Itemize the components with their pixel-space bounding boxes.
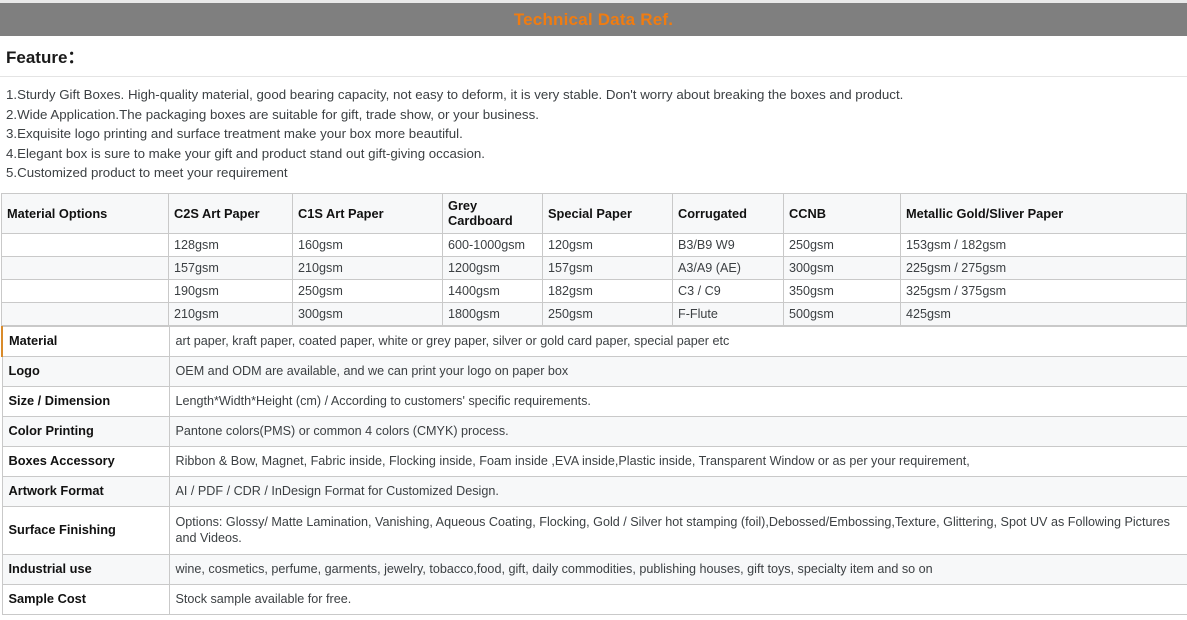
spec-label: Material — [2, 326, 169, 356]
spec-value: AI / PDF / CDR / InDesign Format for Cus… — [169, 476, 1187, 506]
column-header-corrugated: Corrugated — [673, 193, 784, 233]
spec-row-surface-finishing: Surface Finishing Options: Glossy/ Matte… — [2, 506, 1187, 554]
spec-value: Pantone colors(PMS) or common 4 colors (… — [169, 416, 1187, 446]
technical-data-page: Technical Data Ref. Feature： 1.Sturdy Gi… — [0, 0, 1187, 620]
spec-value: Stock sample available for free. — [169, 584, 1187, 614]
spec-label: Color Printing — [2, 416, 169, 446]
spec-row-logo: Logo OEM and ODM are available, and we c… — [2, 356, 1187, 386]
cell: 325gsm / 375gsm — [901, 279, 1187, 302]
cell — [2, 279, 169, 302]
spec-row-artwork-format: Artwork Format AI / PDF / CDR / InDesign… — [2, 476, 1187, 506]
cell: A3/A9 (AE) — [673, 256, 784, 279]
cell: 250gsm — [543, 302, 673, 325]
cell — [2, 233, 169, 256]
cell: 182gsm — [543, 279, 673, 302]
feature-list: 1.Sturdy Gift Boxes. High-quality materi… — [0, 77, 1187, 193]
spec-label: Artwork Format — [2, 476, 169, 506]
column-header-c1s-art-paper: C1S Art Paper — [293, 193, 443, 233]
cell: 1200gsm — [443, 256, 543, 279]
cell: 1800gsm — [443, 302, 543, 325]
cell: 153gsm / 182gsm — [901, 233, 1187, 256]
column-header-special-paper: Special Paper — [543, 193, 673, 233]
spec-value: Ribbon & Bow, Magnet, Fabric inside, Flo… — [169, 446, 1187, 476]
page-title: Technical Data Ref. — [514, 11, 673, 28]
cell: 157gsm — [169, 256, 293, 279]
cell: 300gsm — [784, 256, 901, 279]
column-header-ccnb: CCNB — [784, 193, 901, 233]
cell: 128gsm — [169, 233, 293, 256]
spec-label: Logo — [2, 356, 169, 386]
table-row: 210gsm 300gsm 1800gsm 250gsm F-Flute 500… — [2, 302, 1187, 325]
feature-line: 4.Elegant box is sure to make your gift … — [6, 144, 1181, 164]
spec-label: Sample Cost — [2, 584, 169, 614]
feature-line: 1.Sturdy Gift Boxes. High-quality materi… — [6, 85, 1181, 105]
spec-row-industrial-use: Industrial use wine, cosmetics, perfume,… — [2, 554, 1187, 584]
cell: B3/B9 W9 — [673, 233, 784, 256]
cell: 600-1000gsm — [443, 233, 543, 256]
cell: 120gsm — [543, 233, 673, 256]
cell: C3 / C9 — [673, 279, 784, 302]
spec-value: Length*Width*Height (cm) / According to … — [169, 386, 1187, 416]
feature-line: 5.Customized product to meet your requir… — [6, 163, 1181, 183]
spec-label: Industrial use — [2, 554, 169, 584]
spec-label: Size / Dimension — [2, 386, 169, 416]
spec-row-color-printing: Color Printing Pantone colors(PMS) or co… — [2, 416, 1187, 446]
spec-row-boxes-accessory: Boxes Accessory Ribbon & Bow, Magnet, Fa… — [2, 446, 1187, 476]
cell — [2, 302, 169, 325]
column-header-c2s-art-paper: C2S Art Paper — [169, 193, 293, 233]
cell: 500gsm — [784, 302, 901, 325]
column-header-material-options: Material Options — [2, 193, 169, 233]
specification-table: Material art paper, kraft paper, coated … — [1, 326, 1187, 615]
spec-value: OEM and ODM are available, and we can pr… — [169, 356, 1187, 386]
cell: 190gsm — [169, 279, 293, 302]
spec-value: Options: Glossy/ Matte Lamination, Vanis… — [169, 506, 1187, 554]
cell: 225gsm / 275gsm — [901, 256, 1187, 279]
spec-row-sample-cost: Sample Cost Stock sample available for f… — [2, 584, 1187, 614]
cell: 350gsm — [784, 279, 901, 302]
material-options-table: Material Options C2S Art Paper C1S Art P… — [1, 193, 1187, 326]
cell: 210gsm — [293, 256, 443, 279]
spec-label: Surface Finishing — [2, 506, 169, 554]
cell: F-Flute — [673, 302, 784, 325]
spec-row-material: Material art paper, kraft paper, coated … — [2, 326, 1187, 356]
cell: 1400gsm — [443, 279, 543, 302]
cell: 250gsm — [293, 279, 443, 302]
cell: 160gsm — [293, 233, 443, 256]
column-header-grey-cardboard: Grey Cardboard — [443, 193, 543, 233]
cell: 210gsm — [169, 302, 293, 325]
table-header-row: Material Options C2S Art Paper C1S Art P… — [2, 193, 1187, 233]
page-banner: Technical Data Ref. — [0, 3, 1187, 36]
cell — [2, 256, 169, 279]
feature-line: 3.Exquisite logo printing and surface tr… — [6, 124, 1181, 144]
feature-heading-row: Feature： — [0, 36, 1187, 77]
cell: 157gsm — [543, 256, 673, 279]
column-header-metallic-paper: Metallic Gold/Sliver Paper — [901, 193, 1187, 233]
spec-row-size-dimension: Size / Dimension Length*Width*Height (cm… — [2, 386, 1187, 416]
spec-value: wine, cosmetics, perfume, garments, jewe… — [169, 554, 1187, 584]
table-row: 128gsm 160gsm 600-1000gsm 120gsm B3/B9 W… — [2, 233, 1187, 256]
cell: 300gsm — [293, 302, 443, 325]
spec-value: art paper, kraft paper, coated paper, wh… — [169, 326, 1187, 356]
cell: 425gsm — [901, 302, 1187, 325]
spec-label: Boxes Accessory — [2, 446, 169, 476]
table-row: 190gsm 250gsm 1400gsm 182gsm C3 / C9 350… — [2, 279, 1187, 302]
table-row: 157gsm 210gsm 1200gsm 157gsm A3/A9 (AE) … — [2, 256, 1187, 279]
feature-heading: Feature： — [6, 48, 84, 67]
feature-line: 2.Wide Application.The packaging boxes a… — [6, 105, 1181, 125]
cell: 250gsm — [784, 233, 901, 256]
